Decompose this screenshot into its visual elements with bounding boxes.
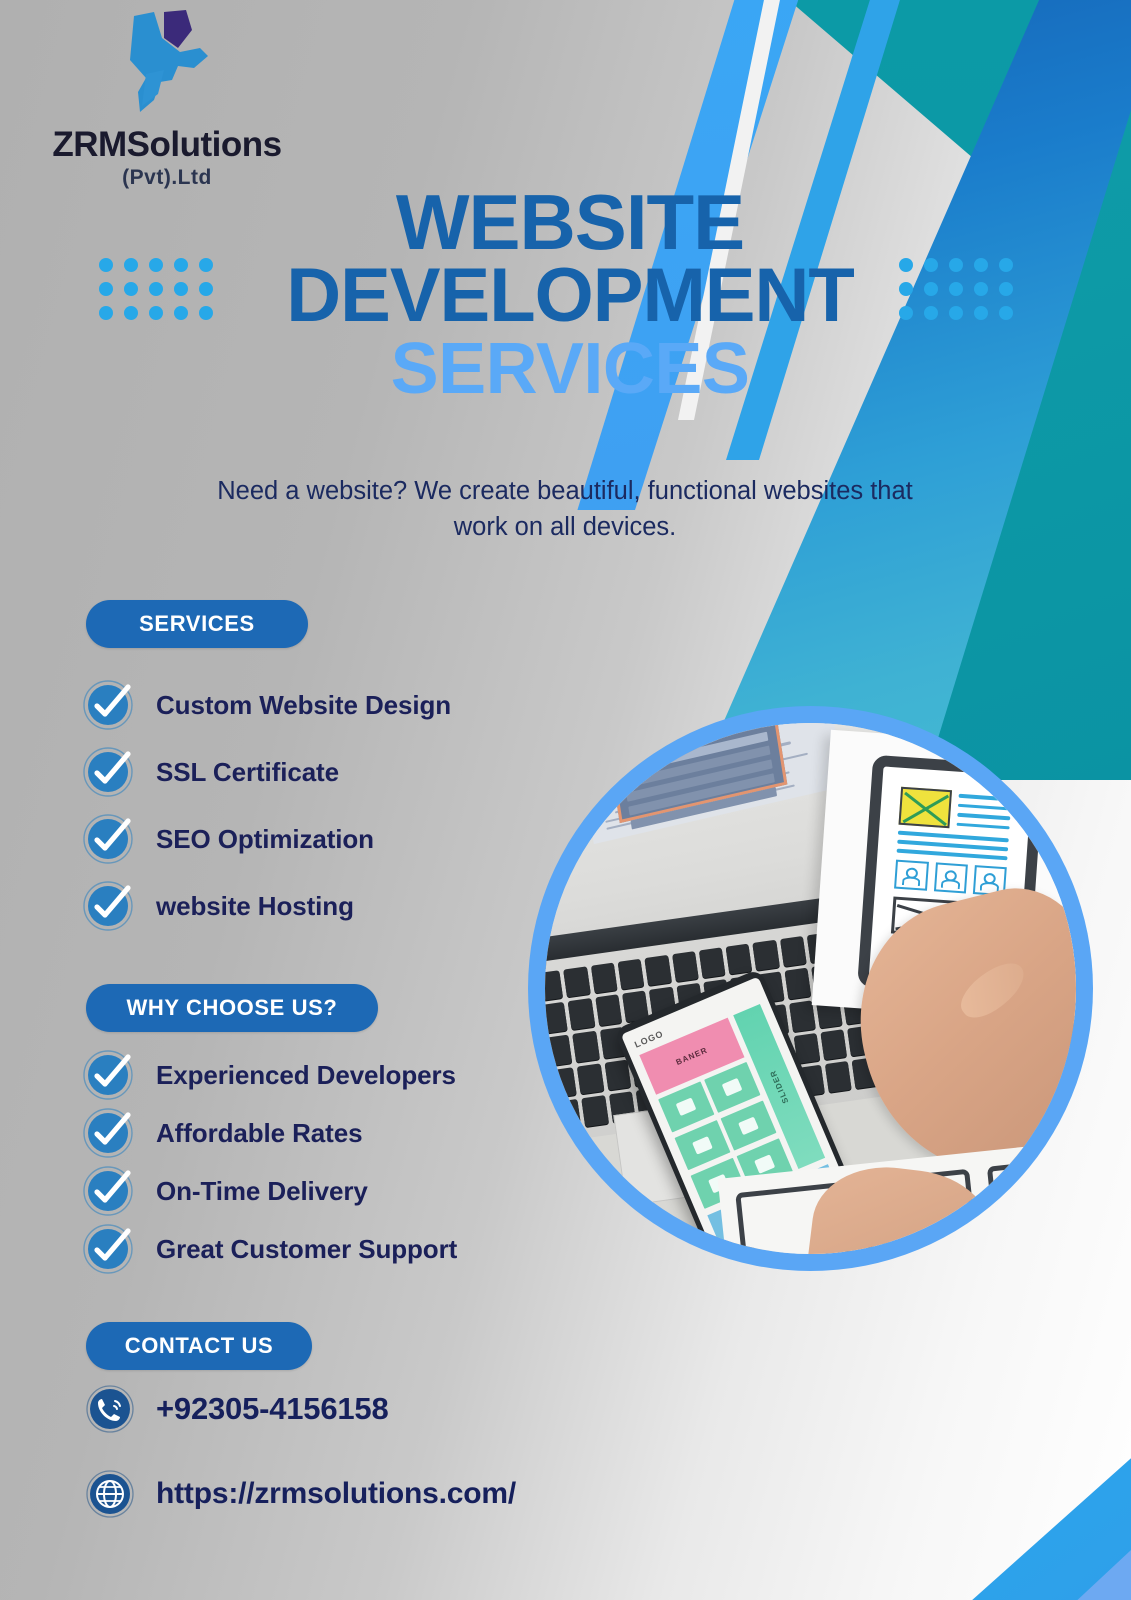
list-item: Experienced Developers <box>82 1050 457 1100</box>
check-circle-icon <box>82 1049 134 1101</box>
contact-phone-number: +92305-4156158 <box>156 1391 389 1427</box>
check-circle-icon <box>82 813 134 865</box>
list-item: SEO Optimization <box>82 814 451 864</box>
list-item-label: Great Customer Support <box>156 1234 457 1265</box>
brand-name: ZRMSolutions <box>22 125 312 165</box>
list-item: SSL Certificate <box>82 747 451 797</box>
services-badge: SERVICES <box>86 600 308 648</box>
page-title: WEBSITE DEVELOPMENT SERVICES <box>250 185 890 404</box>
headline-line-3: SERVICES <box>250 335 890 404</box>
contact-website-row[interactable]: https://zrmsolutions.com/ <box>86 1470 516 1518</box>
check-circle-icon <box>82 1165 134 1217</box>
list-item-label: Experienced Developers <box>156 1060 456 1091</box>
check-circle-icon <box>82 1107 134 1159</box>
dot-grid-right <box>899 258 1013 320</box>
list-item-label: Affordable Rates <box>156 1118 362 1149</box>
mockup-slider-label: SLIDER <box>768 1068 790 1104</box>
list-item: Custom Website Design <box>82 680 451 730</box>
services-list: Custom Website Design SSL Certificate SE… <box>82 680 451 948</box>
why-choose-us-badge: WHY CHOOSE US? <box>86 984 378 1032</box>
subtitle-text: Need a website? We create beautiful, fun… <box>215 473 915 545</box>
list-item: Great Customer Support <box>82 1224 457 1274</box>
workspace-photo: LOGO BANER SLIDER <box>545 723 1076 1254</box>
list-item: Affordable Rates <box>82 1108 457 1158</box>
contact-phone-row[interactable]: +92305-4156158 <box>86 1385 389 1433</box>
globe-icon <box>86 1470 134 1518</box>
blue-corner-bottom-right-icon <box>921 1390 1131 1600</box>
workspace-photo-circle: LOGO BANER SLIDER <box>528 706 1093 1271</box>
phone-ringing-icon <box>86 1385 134 1433</box>
why-choose-us-list: Experienced Developers Affordable Rates … <box>82 1050 457 1282</box>
contact-website-url: https://zrmsolutions.com/ <box>156 1477 516 1511</box>
contact-us-badge: CONTACT US <box>86 1322 312 1370</box>
check-circle-icon <box>82 679 134 731</box>
headline-line-2: DEVELOPMENT <box>250 260 890 333</box>
dot-grid-left <box>99 258 213 320</box>
list-item: website Hosting <box>82 881 451 931</box>
list-item-label: website Hosting <box>156 891 354 922</box>
index-finger <box>952 954 1032 1027</box>
check-circle-icon <box>82 746 134 798</box>
headline-line-1: WEBSITE <box>250 185 890 260</box>
brand-logo: ZRMSolutions (Pvt).Ltd <box>22 8 312 190</box>
bird-logo-icon <box>102 8 232 123</box>
blue-corner-bottom-right-accent-icon <box>1011 1480 1131 1600</box>
list-item: On-Time Delivery <box>82 1166 457 1216</box>
poster-canvas: ZRMSolutions (Pvt).Ltd WEBSITE DEVELOPME… <box>0 0 1131 1600</box>
check-circle-icon <box>82 1223 134 1275</box>
check-circle-icon <box>82 880 134 932</box>
list-item-label: Custom Website Design <box>156 690 451 721</box>
list-item-label: SEO Optimization <box>156 824 374 855</box>
list-item-label: SSL Certificate <box>156 757 339 788</box>
list-item-label: On-Time Delivery <box>156 1176 368 1207</box>
